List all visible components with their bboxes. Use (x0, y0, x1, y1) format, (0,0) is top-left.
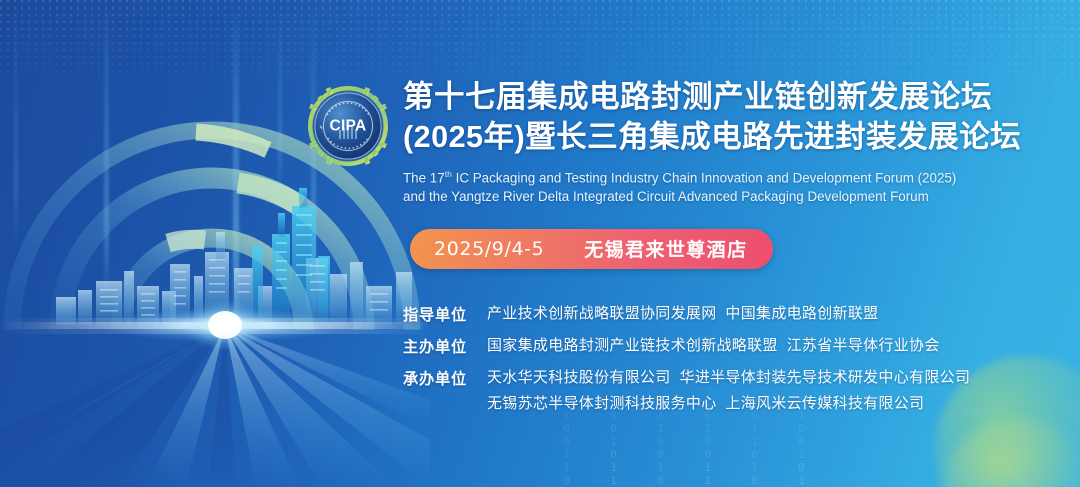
organization-value: 产业技术创新战略联盟协同发展网 中国集成电路创新联盟 (487, 303, 1063, 325)
subtitle-line-2: and the Yangtze River Delta Integrated C… (403, 188, 1033, 207)
date-venue-pill-wrapper: 2025/9/4-5 无锡君来世尊酒店 (410, 229, 773, 269)
date-venue-pill: 2025/9/4-5 无锡君来世尊酒店 (410, 229, 773, 269)
cipa-logo-text: CIPA (329, 118, 366, 135)
organizations-block: 指导单位 产业技术创新战略联盟协同发展网 中国集成电路创新联盟 主办单位 国家集… (403, 303, 1063, 415)
event-date: 2025/9/4-5 (434, 238, 544, 260)
organization-row: 指导单位 产业技术创新战略联盟协同发展网 中国集成电路创新联盟 (403, 303, 1063, 325)
subtitle-line-1: The 17th IC Packaging and Testing Indust… (403, 165, 1033, 188)
title-line-2: (2025年)暨长三角集成电路先进封装发展论坛 (403, 118, 1033, 156)
organization-row: 主办单位 国家集成电路封测产业链技术创新战略联盟 江苏省半导体行业协会 (403, 335, 1063, 357)
organization-label: 指导单位 (403, 303, 487, 325)
event-venue: 无锡君来世尊酒店 (584, 235, 747, 262)
subtitle-block: The 17th IC Packaging and Testing Indust… (403, 165, 1033, 206)
organization-value: 天水华天科技股份有限公司 华进半导体封装先导技术研发中心有限公司 (487, 367, 1063, 389)
organization-value: 无锡苏芯半导体封测科技服务中心 上海风米云传媒科技有限公司 (487, 393, 1063, 415)
organization-label: 承办单位 (403, 367, 487, 389)
organization-value: 国家集成电路封测产业链技术创新战略联盟 江苏省半导体行业协会 (487, 335, 1063, 357)
ordinal-suffix: th (445, 169, 452, 179)
event-banner: 0100110 1001011 0110010 1010011 0011010 … (0, 0, 1080, 487)
organization-values: 产业技术创新战略联盟协同发展网 中国集成电路创新联盟 (487, 303, 1063, 325)
organization-values: 国家集成电路封测产业链技术创新战略联盟 江苏省半导体行业协会 (487, 335, 1063, 357)
title-block: 第十七届集成电路封测产业链创新发展论坛 (2025年)暨长三角集成电路先进封装发… (403, 78, 1033, 206)
organization-row: 承办单位 天水华天科技股份有限公司 华进半导体封装先导技术研发中心有限公司 无锡… (403, 367, 1063, 415)
cipa-logo: CIPA (306, 84, 390, 168)
title-line-1: 第十七届集成电路封测产业链创新发展论坛 (403, 78, 1033, 116)
subtitle-suffix: IC Packaging and Testing Industry Chain … (452, 170, 956, 185)
organization-label: 主办单位 (403, 335, 487, 357)
organization-values: 天水华天科技股份有限公司 华进半导体封装先导技术研发中心有限公司 无锡苏芯半导体… (487, 367, 1063, 415)
subtitle-prefix: The 17 (403, 170, 445, 185)
